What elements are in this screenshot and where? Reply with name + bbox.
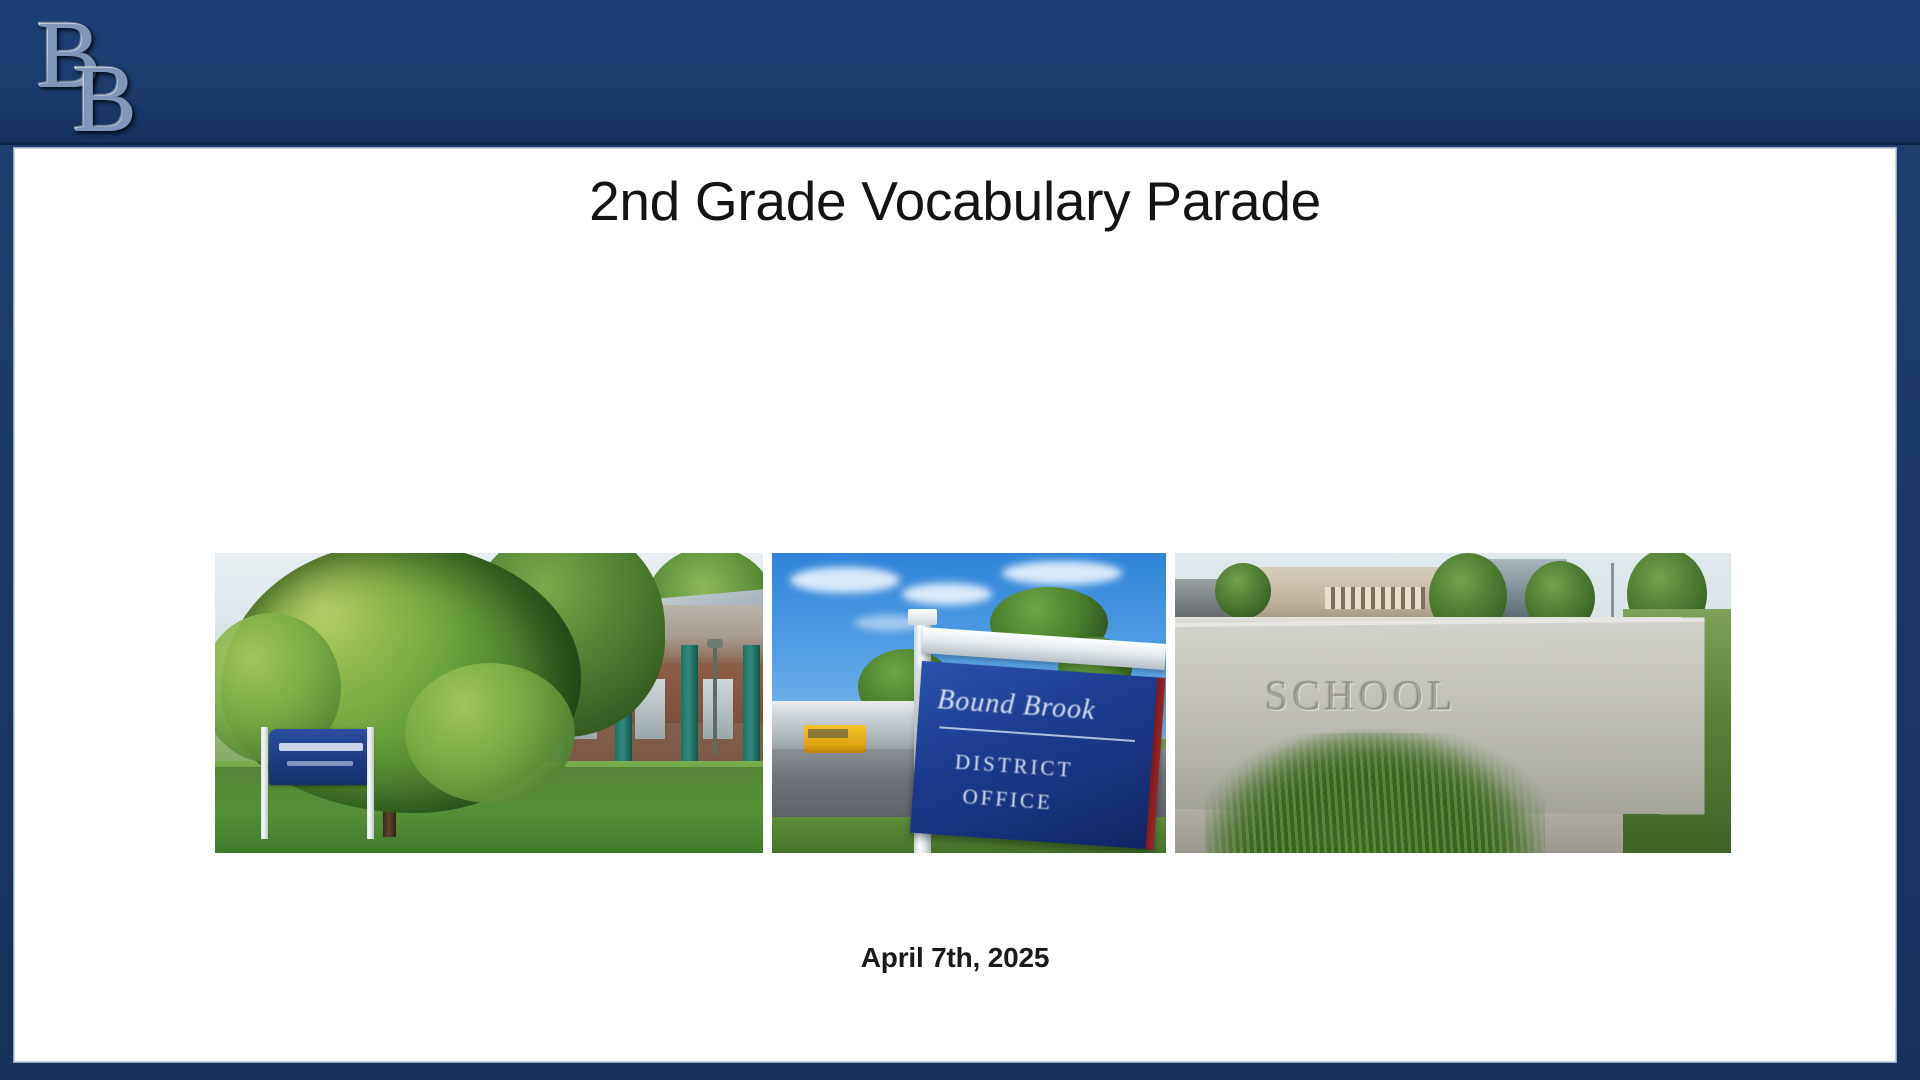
- photo3-grass-blades: [1205, 733, 1545, 853]
- photo2-sign-board: Bound Brook DISTRICT OFFICE: [910, 661, 1165, 850]
- photo2-cloud: [790, 567, 900, 593]
- presentation-frame: B B 2nd Grade Vocabulary Parade: [0, 0, 1920, 1080]
- photo1-lamp-head: [707, 639, 723, 648]
- photo2-sign-line-district: DISTRICT: [954, 750, 1074, 783]
- photo1-sign-text-line: [279, 743, 363, 751]
- photo1-column: [681, 645, 698, 773]
- photo1-school-sign: [269, 729, 373, 785]
- photo3-tree: [1215, 563, 1271, 619]
- photo3-window-row: [1325, 587, 1425, 609]
- slide-title: 2nd Grade Vocabulary Parade: [15, 169, 1895, 233]
- header-band: B B: [0, 0, 1920, 145]
- photo2-sign-post-cap: [908, 609, 937, 625]
- photo2-school-bus: [804, 725, 866, 753]
- photo2-bus-window: [808, 729, 848, 738]
- bb-logo-letter-bottom: B: [72, 50, 136, 146]
- photo-district-office-sign: Bound Brook DISTRICT OFFICE: [772, 553, 1166, 853]
- photo2-cloud: [1002, 561, 1122, 585]
- photo1-tree-blob: [405, 663, 575, 803]
- photo1-sign-post: [261, 727, 268, 839]
- photo3-wall-engraved-text: SCHOOL: [1265, 673, 1457, 721]
- photo2-sign-line-office: OFFICE: [962, 784, 1054, 815]
- photo2-sign-script-text: Bound Brook: [936, 684, 1138, 730]
- slide-date: April 7th, 2025: [15, 942, 1895, 974]
- photo1-column: [743, 645, 760, 773]
- photo2-sign-rule: [939, 726, 1135, 742]
- bb-monogram-logo: B B: [30, 6, 170, 138]
- photo1-sign-text-line: [287, 761, 353, 766]
- photo1-lamp-post: [713, 645, 717, 755]
- photo-high-school-wall-sign: SCHOOL: [1175, 553, 1731, 853]
- photo1-window: [703, 679, 733, 739]
- photo-strip: Bound Brook DISTRICT OFFICE: [215, 553, 1740, 853]
- photo2-cloud: [902, 583, 992, 605]
- photo-elementary-school-exterior: [215, 553, 763, 853]
- photo1-sign-post: [367, 727, 374, 839]
- slide-panel: 2nd Grade Vocabulary Parade: [14, 148, 1896, 1062]
